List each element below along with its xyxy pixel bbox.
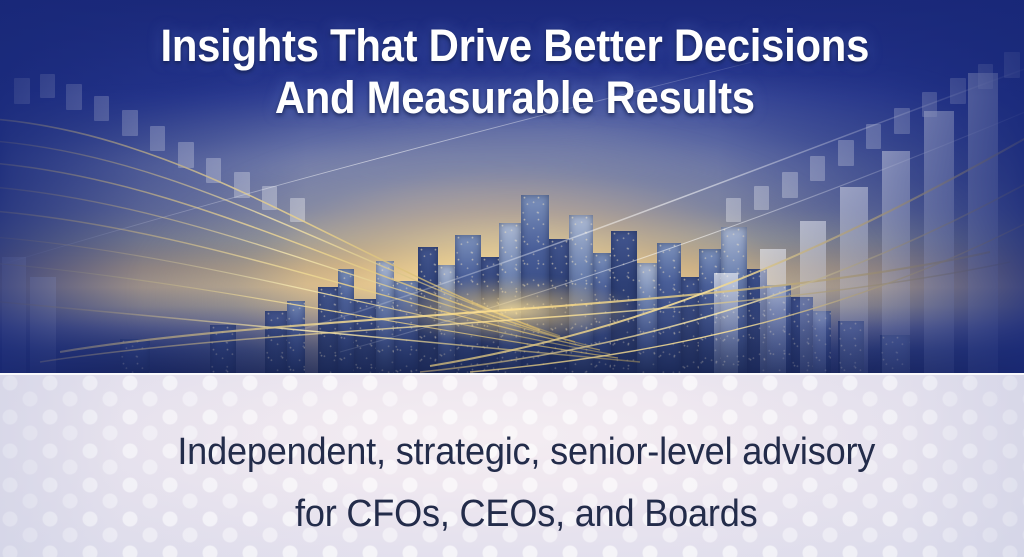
subtitle-line-2: for CFOs, CEOs, and Boards (54, 483, 998, 545)
subtitle-panel: Independent, strategic, senior-level adv… (0, 373, 1024, 557)
subtitle-line-1: Independent, strategic, senior-level adv… (54, 421, 998, 483)
headline-line-1: Insights That Drive Better Decisions (41, 20, 988, 72)
marketing-hero-banner: Insights That Drive Better Decisions And… (0, 0, 1024, 557)
hero-image: Insights That Drive Better Decisions And… (0, 0, 1024, 373)
headline: Insights That Drive Better Decisions And… (36, 20, 988, 124)
subtitle: Independent, strategic, senior-level adv… (26, 421, 999, 545)
headline-line-2: And Measurable Results (41, 72, 988, 124)
panel-top-divider (0, 373, 1024, 375)
